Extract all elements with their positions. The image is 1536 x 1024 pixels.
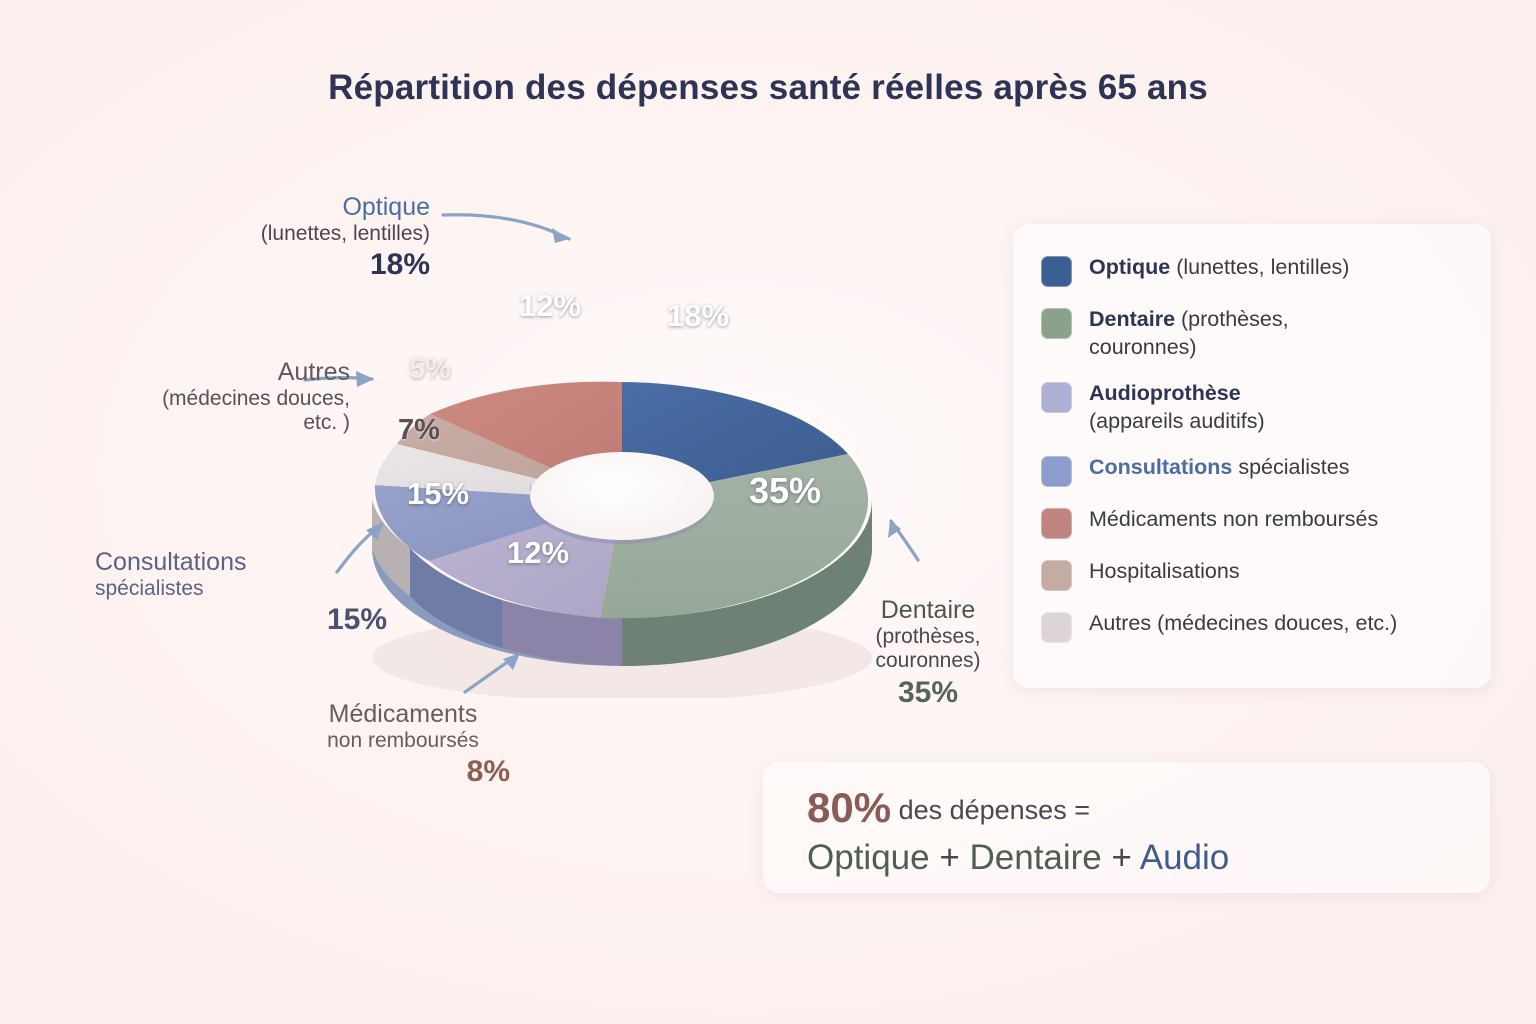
callout-dentaire-sub1: (prothèses, [818, 625, 1038, 649]
summary-optique: Optique [807, 838, 930, 877]
page-title: Répartition des dépenses santé réelles a… [0, 68, 1536, 108]
legend-swatch-medicaments [1041, 508, 1072, 539]
callout-medicaments-sub: non remboursés [278, 729, 528, 753]
callout-consultations-lead: Consultations [95, 548, 395, 577]
legend-swatch-consultations [1041, 456, 1072, 487]
legend-rest2-dentaire: couronnes) [1089, 335, 1197, 359]
legend-label-consultations: Consultations spécialistes [1089, 454, 1349, 482]
legend-rest-optique: (lunettes, lentilles) [1170, 255, 1349, 279]
legend-label-medicaments: Médicaments non remboursés [1089, 506, 1378, 534]
callout-medicaments-pct: 8% [278, 755, 528, 790]
legend-item-optique[interactable]: Optique (lunettes, lentilles) [1041, 254, 1465, 287]
arrow-optique [443, 215, 569, 239]
callout-optique-sub: (lunettes, lentilles) [150, 222, 430, 246]
summary-plus-1: + [930, 838, 970, 877]
callout-medicaments-lead: Médicaments [278, 700, 528, 729]
callout-dentaire-sub2: couronnes) [818, 649, 1038, 673]
callout-autres-lead: Autres [20, 358, 350, 387]
legend-label-optique: Optique (lunettes, lentilles) [1089, 254, 1349, 282]
callout-consultations-sub: spécialistes [95, 577, 395, 601]
summary-line-1: 80% des dépenses = [807, 784, 1490, 832]
legend-item-autres[interactable]: Autres (médecines douces, etc.) [1041, 610, 1465, 643]
callout-autres-sub2: etc. ) [20, 411, 350, 435]
callout-optique: Optique (lunettes, lentilles) 18% [150, 193, 430, 283]
callout-dentaire-pct: 35% [818, 676, 1038, 711]
summary-big-number: 80% [807, 784, 891, 831]
legend-swatch-audio [1041, 382, 1072, 413]
legend-rest-consultations: spécialistes [1232, 455, 1349, 479]
legend-label-audio: Audioprothèse (appareils auditifs) [1089, 380, 1265, 435]
legend-strong-consultations: Consultations [1089, 455, 1232, 479]
legend-item-consultations[interactable]: Consultations spécialistes [1041, 454, 1465, 487]
legend-label-hospitalisations: Hospitalisations [1089, 558, 1240, 586]
callout-consultations: Consultations spécialistes 15% [95, 548, 395, 638]
summary-dentaire: Dentaire [969, 838, 1101, 877]
callout-autres-sub1: (médecines douces, [20, 387, 350, 411]
summary-callout: 80% des dépenses = Optique + Dentaire + … [763, 762, 1490, 893]
legend-item-dentaire[interactable]: Dentaire (prothèses, couronnes) [1041, 306, 1465, 361]
legend-strong-audio: Audioprothèse [1089, 381, 1241, 405]
legend-rest-dentaire: (prothèses, [1175, 307, 1289, 331]
legend-label-dentaire: Dentaire (prothèses, couronnes) [1089, 306, 1289, 361]
summary-plus-2: + [1102, 838, 1140, 877]
legend-rest2-audio: (appareils auditifs) [1089, 409, 1265, 433]
donut-chart: 18% 35% 12% 15% 7% 5% 12% [352, 238, 892, 698]
legend-item-medicaments[interactable]: Médicaments non remboursés [1041, 506, 1465, 539]
summary-line-2: Optique + Dentaire + Audio [807, 838, 1490, 878]
callout-optique-lead: Optique [150, 193, 430, 222]
legend-swatch-optique [1041, 256, 1072, 287]
legend-item-hospitalisations[interactable]: Hospitalisations [1041, 558, 1465, 591]
callout-autres: Autres (médecines douces, etc. ) [20, 358, 350, 436]
summary-line1-rest: des dépenses = [891, 795, 1090, 825]
legend-strong-optique: Optique [1089, 255, 1170, 279]
arrow-dentaire [891, 521, 918, 560]
legend-strong-dentaire: Dentaire [1089, 307, 1175, 331]
callout-consultations-pct: 15% [95, 603, 395, 638]
donut-svg [352, 238, 892, 698]
callout-optique-pct: 18% [150, 248, 430, 283]
callout-dentaire: Dentaire (prothèses, couronnes) 35% [818, 596, 1038, 711]
summary-audio: Audio [1140, 838, 1230, 877]
legend-swatch-autres [1041, 612, 1072, 643]
legend-label-autres: Autres (médecines douces, etc.) [1089, 610, 1397, 638]
legend-swatch-hospitalisations [1041, 560, 1072, 591]
legend-item-audio[interactable]: Audioprothèse (appareils auditifs) [1041, 380, 1465, 435]
legend: Optique (lunettes, lentilles) Dentaire (… [1013, 224, 1491, 688]
legend-swatch-dentaire [1041, 308, 1072, 339]
callout-medicaments: Médicaments non remboursés 8% [278, 700, 528, 790]
callout-dentaire-lead: Dentaire [818, 596, 1038, 625]
donut-hole [530, 452, 714, 540]
